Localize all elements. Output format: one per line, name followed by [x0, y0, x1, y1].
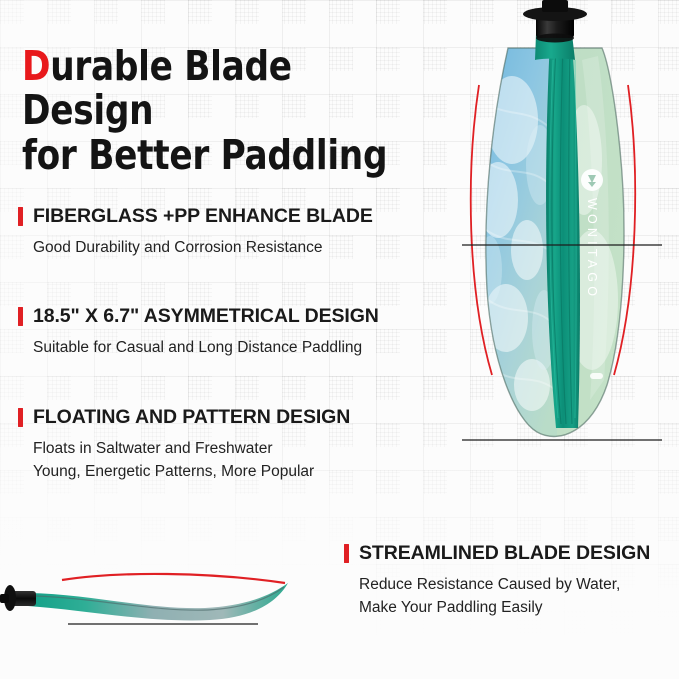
feature-title: FIBERGLASS +PP ENHANCE BLADE	[33, 205, 373, 228]
feature-subtitle: Reduce Resistance Caused by Water, Make …	[359, 574, 650, 620]
promo-page: Durable Blade Design for Better Paddling…	[0, 0, 679, 679]
headline-line-1: urable Blade Design	[22, 42, 292, 134]
feature-heading: 18.5" X 6.7" ASYMMETRICAL DESIGN	[18, 305, 379, 328]
headline-dropcap: D	[22, 42, 50, 90]
feature-subtitle: Floats in Saltwater and Freshwater Young…	[33, 438, 350, 484]
blade-body	[432, 0, 679, 470]
side-profile-illustration	[0, 548, 330, 653]
ferrule-base	[536, 34, 574, 43]
feature-block-fiberglass: FIBERGLASS +PP ENHANCE BLADE Good Durabi…	[18, 205, 373, 260]
red-streamline-curve	[62, 574, 285, 583]
brand-wordmark: WONITAGO	[585, 198, 599, 300]
feature-subtitle: Good Durability and Corrosion Resistance	[33, 237, 373, 260]
feature-heading: FLOATING AND PATTERN DESIGN	[18, 406, 350, 429]
side-shaft-end	[0, 594, 9, 603]
red-tick-icon	[18, 207, 23, 226]
feature-block-streamlined: STREAMLINED BLADE DESIGN Reduce Resistan…	[344, 542, 650, 620]
feature-heading: STREAMLINED BLADE DESIGN	[344, 542, 650, 565]
page-title: Durable Blade Design for Better Paddling	[22, 44, 394, 177]
headline-line-2: for Better Paddling	[22, 131, 387, 179]
feature-block-floating: FLOATING AND PATTERN DESIGN Floats in Sa…	[18, 406, 350, 484]
feature-subtitle: Suitable for Casual and Long Distance Pa…	[33, 337, 379, 360]
feature-heading: FIBERGLASS +PP ENHANCE BLADE	[18, 205, 373, 228]
side-blade-body	[28, 583, 288, 620]
feature-title: FLOATING AND PATTERN DESIGN	[33, 406, 350, 429]
blade-tag-icon	[590, 373, 603, 379]
shaft-top	[542, 0, 568, 12]
red-tick-icon	[18, 408, 23, 427]
blade-illustration: WONITAGO	[432, 0, 679, 470]
paddle-blade-side-view	[0, 548, 330, 653]
feature-title: STREAMLINED BLADE DESIGN	[359, 542, 650, 565]
red-tick-icon	[18, 307, 23, 326]
feature-title: 18.5" X 6.7" ASYMMETRICAL DESIGN	[33, 305, 379, 328]
feature-block-asymmetrical: 18.5" X 6.7" ASYMMETRICAL DESIGN Suitabl…	[18, 305, 379, 360]
paddle-blade-front-view: WONITAGO	[432, 0, 679, 470]
red-tick-icon	[344, 544, 349, 563]
